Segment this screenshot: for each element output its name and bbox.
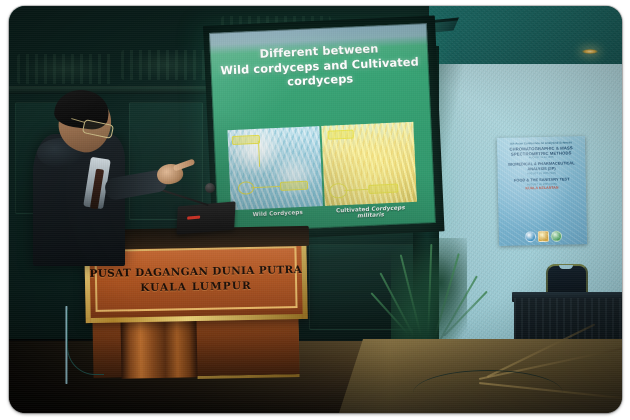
poster-logo-icon xyxy=(537,231,548,242)
slide-callout-label xyxy=(232,135,260,145)
podium-text-line2: KUALA LUMPUR xyxy=(140,279,252,293)
poster-logo-row xyxy=(503,230,583,243)
wall-molding xyxy=(9,86,219,94)
cultivated-cordyceps-image xyxy=(321,122,417,206)
laptop-logo-icon xyxy=(187,215,200,219)
wall-carving xyxy=(17,54,113,84)
microphone-head-icon xyxy=(205,183,215,193)
slide-title: Different between Wild cordyceps and Cul… xyxy=(218,39,422,92)
slide-callout-label xyxy=(328,130,354,140)
poster-logo-icon xyxy=(524,231,535,242)
laptop-computer xyxy=(176,201,235,234)
poster-logo-icon xyxy=(550,231,561,242)
ceiling-light-icon xyxy=(582,49,598,54)
photo-white-border: Different between Wild cordyceps and Cul… xyxy=(0,0,630,420)
poster-venue-1: KUALA KELANTAN xyxy=(502,186,582,192)
slide-leader-line xyxy=(251,186,281,189)
podium-base-front xyxy=(120,317,197,378)
slide-image-pair xyxy=(227,122,416,210)
slide-leader-line xyxy=(258,141,261,167)
conference-poster: 8th Asian Conference on Analytical Scien… xyxy=(497,136,587,246)
wall-carving xyxy=(121,50,211,80)
slide-leader-line xyxy=(344,189,368,191)
projection-screen: Different between Wild cordyceps and Cul… xyxy=(209,23,436,233)
photograph: Different between Wild cordyceps and Cul… xyxy=(9,6,622,413)
palm-frond xyxy=(427,244,432,340)
screenshot-root: Different between Wild cordyceps and Cul… xyxy=(0,0,630,420)
chair-back-gap xyxy=(559,265,573,269)
slide-callout-label xyxy=(280,181,308,191)
wild-cordyceps-image xyxy=(227,126,323,210)
slide-callout-label xyxy=(368,184,398,194)
potted-palm-plant xyxy=(391,238,467,350)
